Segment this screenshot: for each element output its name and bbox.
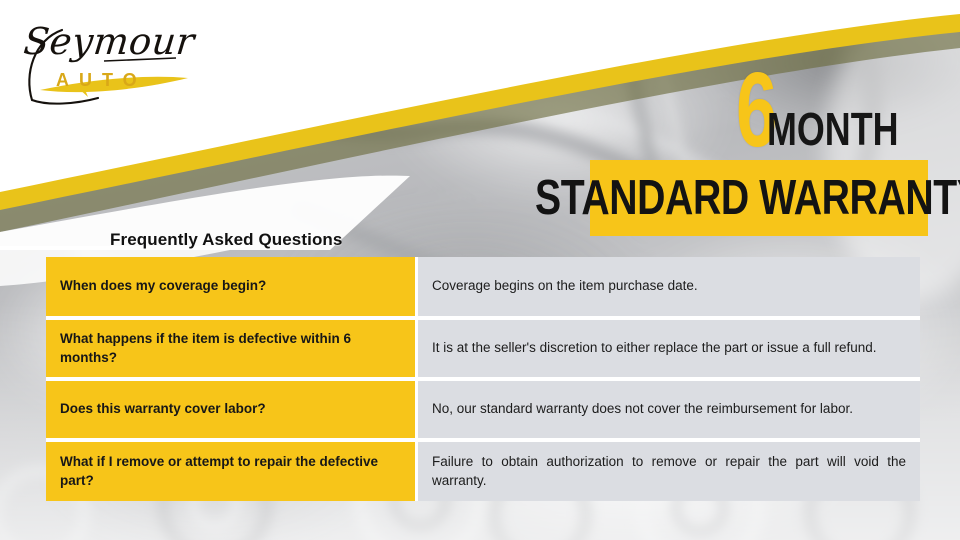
standard-warranty-banner-text: STANDARD WARRANTY (535, 170, 960, 226)
warranty-term: 6 MONTH (736, 46, 936, 154)
faq-answer-cell: Coverage begins on the item purchase dat… (418, 257, 920, 318)
faq-answer-cell: It is at the seller's discretion to eith… (418, 318, 920, 379)
warranty-headline: 6 MONTH STANDARD WARRANTY (588, 46, 928, 238)
faq-question-cell: When does my coverage begin? (46, 257, 418, 318)
logo-subwordmark: AUTO (56, 70, 147, 91)
faq-answer-cell: Failure to obtain authorization to remov… (418, 440, 920, 501)
warranty-slide: Seymour AUTO 6 MONTH STANDARD WARRANTY F… (0, 0, 960, 540)
table-row: What if I remove or attempt to repair th… (46, 440, 920, 501)
faq-question-cell: Does this warranty cover labor? (46, 379, 418, 440)
table-row: Does this warranty cover labor? No, our … (46, 379, 920, 440)
seymour-auto-logo: Seymour AUTO (18, 14, 208, 106)
standard-warranty-banner: STANDARD WARRANTY (590, 160, 928, 236)
faq-table: When does my coverage begin? Coverage be… (46, 257, 920, 501)
faq-question-cell: What happens if the item is defective wi… (46, 318, 418, 379)
table-row: When does my coverage begin? Coverage be… (46, 257, 920, 318)
faq-answer-cell: No, our standard warranty does not cover… (418, 379, 920, 440)
faq-question-cell: What if I remove or attempt to repair th… (46, 440, 418, 501)
table-row: What happens if the item is defective wi… (46, 318, 920, 379)
faq-section-title: Frequently Asked Questions (110, 230, 342, 250)
warranty-term-unit: MONTH (767, 106, 899, 152)
logo-wordmark: Seymour (22, 20, 197, 63)
